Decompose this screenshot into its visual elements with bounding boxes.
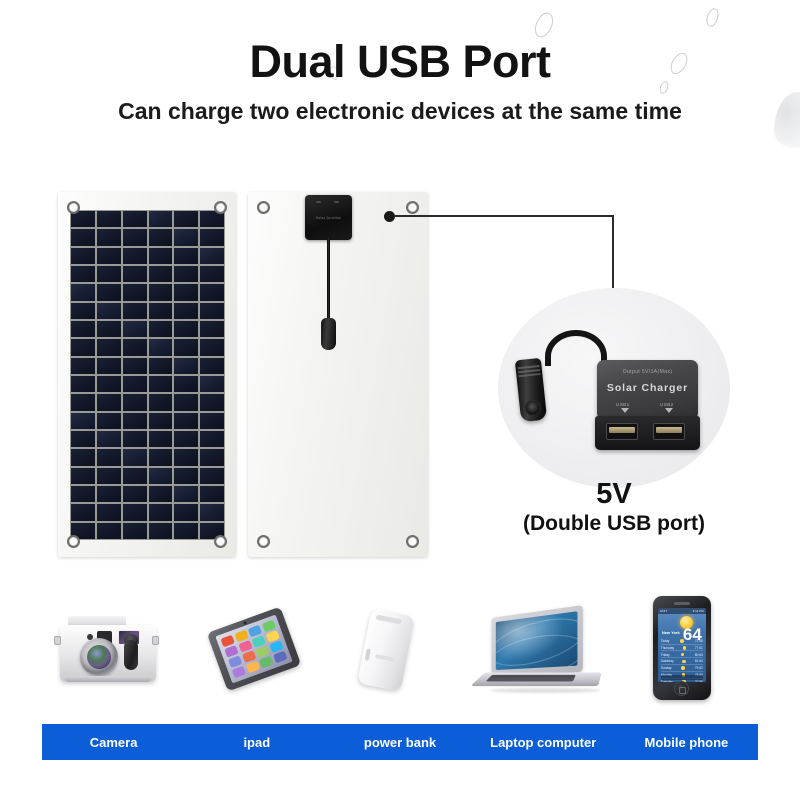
forecast-temps: 81 64	[695, 659, 703, 663]
forecast-temps: 77 61	[695, 646, 703, 650]
laptop-lid	[491, 605, 582, 676]
smartphone-body: AT&T 3:14 PM New York 64 Today72 58Thurs…	[653, 596, 711, 700]
solar-cell	[174, 339, 198, 355]
tablet-app-icon	[232, 666, 246, 678]
solar-cell	[123, 248, 147, 264]
grommet-icon	[257, 201, 270, 214]
usb1-label: USB1	[616, 402, 630, 407]
watermark-bubble	[704, 7, 720, 28]
solar-cell	[71, 266, 95, 282]
solar-cell	[97, 504, 121, 520]
forecast-temps: 72 58	[695, 639, 703, 643]
solar-panel-back: Solar Junction	[248, 192, 428, 557]
solar-cell	[149, 394, 173, 410]
solar-cell	[71, 339, 95, 355]
solar-cell	[174, 284, 198, 300]
solar-cell	[174, 431, 198, 447]
solar-cell	[123, 376, 147, 392]
grommet-icon	[214, 535, 227, 548]
solar-cell	[97, 486, 121, 502]
solar-cell	[200, 321, 224, 337]
solar-cell	[71, 358, 95, 374]
solar-cell	[97, 339, 121, 355]
solar-cell	[200, 376, 224, 392]
solar-cell	[149, 504, 173, 520]
solar-cell	[200, 413, 224, 429]
solar-cell	[200, 431, 224, 447]
grommet-icon	[67, 535, 80, 548]
device-camera	[42, 592, 185, 704]
solar-cell	[123, 431, 147, 447]
status-time: 3:14 PM	[693, 609, 704, 613]
power-bank-logo	[376, 654, 394, 661]
solar-cell	[149, 523, 173, 539]
solar-cell	[123, 339, 147, 355]
solar-cell	[174, 504, 198, 520]
forecast-temps: 80 63	[695, 653, 703, 657]
forecast-row: Sunday79 62	[661, 666, 703, 672]
phone-status-bar: AT&T 3:14 PM	[658, 608, 706, 614]
solar-cell	[200, 468, 224, 484]
solar-cell	[97, 413, 121, 429]
device-ipad	[185, 592, 328, 704]
solar-cell	[149, 266, 173, 282]
solar-cell	[149, 413, 173, 429]
weather-footer-bar	[661, 675, 703, 680]
solar-cell	[200, 449, 224, 465]
dc-cable	[327, 238, 330, 323]
solar-cell	[71, 394, 95, 410]
caption-voltage: 5V	[498, 478, 730, 511]
camera-base	[64, 676, 152, 682]
solar-cell	[174, 358, 198, 374]
solar-cell	[123, 266, 147, 282]
solar-cell	[200, 229, 224, 245]
solar-cell	[97, 211, 121, 227]
phone-speaker	[674, 602, 690, 605]
solar-cell	[97, 248, 121, 264]
solar-cell	[71, 321, 95, 337]
power-bank-ports	[376, 615, 402, 625]
forecast-day: Saturday	[661, 659, 674, 663]
solar-cell	[97, 266, 121, 282]
barrel-tip	[524, 399, 542, 417]
solar-cell	[71, 284, 95, 300]
solar-cell	[149, 431, 173, 447]
solar-cell	[149, 486, 173, 502]
solar-cell	[97, 394, 121, 410]
solar-cell	[149, 303, 173, 319]
camera-lens	[80, 638, 118, 676]
usb-port-1	[606, 423, 638, 440]
grommet-icon	[406, 201, 419, 214]
solar-cell	[123, 468, 147, 484]
solar-cell	[123, 523, 147, 539]
solar-cell	[200, 486, 224, 502]
camera-lens-glass	[87, 645, 111, 669]
laptop-keyboard	[485, 675, 575, 682]
solar-cell	[174, 248, 198, 264]
solar-cell	[200, 248, 224, 264]
solar-cell	[174, 303, 198, 319]
status-carrier: AT&T	[660, 609, 667, 613]
solar-cell	[97, 284, 121, 300]
solar-cell	[174, 266, 198, 282]
laptop-screen	[495, 611, 577, 670]
device-label-bar: Cameraipadpower bankLaptop computerMobil…	[42, 724, 758, 760]
forecast-temps: 79 62	[695, 666, 703, 670]
solar-cell	[71, 248, 95, 264]
forecast-day: Friday	[661, 653, 670, 657]
device-mobile-phone: AT&T 3:14 PM New York 64 Today72 58Thurs…	[615, 592, 758, 704]
forecast-row: Saturday81 64	[661, 659, 703, 665]
solar-cell	[123, 486, 147, 502]
barrel-ring	[518, 373, 540, 377]
junction-box-label: Solar Junction	[305, 215, 352, 221]
solar-cell	[123, 303, 147, 319]
solar-cell	[71, 468, 95, 484]
solar-cell	[123, 449, 147, 465]
solar-cell	[71, 431, 95, 447]
solar-cell	[71, 303, 95, 319]
weather-city: New York	[662, 630, 680, 635]
power-bank-button	[365, 648, 371, 661]
device-laptop	[472, 592, 615, 704]
solar-cell	[123, 358, 147, 374]
solar-cell	[174, 321, 198, 337]
solar-cell	[174, 394, 198, 410]
laptop-base	[470, 673, 601, 687]
device-label-camera: Camera	[42, 735, 185, 750]
solar-cell	[97, 449, 121, 465]
solar-cell	[71, 413, 95, 429]
forecast-sun-icon	[681, 666, 685, 670]
device-power-bank	[328, 592, 471, 704]
tablet-app-icon	[246, 661, 260, 673]
solar-cell	[174, 449, 198, 465]
solar-cell	[97, 358, 121, 374]
charger-output-label: Output 5V/1A(Max)	[597, 369, 698, 375]
charger-brand-label: Solar Charger	[597, 382, 698, 394]
solar-cell	[149, 376, 173, 392]
phone-screen: AT&T 3:14 PM New York 64 Today72 58Thurs…	[658, 608, 706, 682]
forecast-day: Tuesday	[661, 680, 673, 682]
solar-cell	[149, 321, 173, 337]
solar-cell	[97, 376, 121, 392]
solar-cell	[97, 229, 121, 245]
usb-port-2	[653, 423, 685, 440]
camera-strap-lug	[54, 636, 61, 645]
solar-cell	[149, 339, 173, 355]
solar-cell	[71, 486, 95, 502]
grommet-icon	[214, 201, 227, 214]
solar-cell	[174, 413, 198, 429]
junction-box-pin	[316, 201, 321, 203]
solar-cell	[123, 394, 147, 410]
solar-cell	[149, 211, 173, 227]
solar-cell	[71, 504, 95, 520]
forecast-sun-icon	[683, 646, 687, 650]
solar-cell	[200, 303, 224, 319]
forecast-sun-icon	[680, 639, 684, 643]
solar-cell	[97, 523, 121, 539]
usb-charger-body: Output 5V/1A(Max) Solar Charger USB1 USB…	[597, 360, 698, 420]
solar-panel-front	[58, 192, 236, 557]
solar-cell	[149, 468, 173, 484]
solar-cell	[123, 284, 147, 300]
solar-cell	[200, 284, 224, 300]
callout-line-horizontal	[394, 215, 614, 217]
device-label-smartphone: Mobile phone	[615, 735, 758, 750]
page-subtitle: Can charge two electronic devices at the…	[0, 98, 800, 125]
device-label-power-bank: power bank	[328, 735, 471, 750]
solar-cell	[71, 229, 95, 245]
usb2-label: USB2	[660, 402, 674, 407]
solar-cell	[174, 229, 198, 245]
solar-cell	[200, 394, 224, 410]
solar-cell	[174, 468, 198, 484]
solar-cell	[149, 449, 173, 465]
solar-cell	[174, 486, 198, 502]
forecast-row: Today72 58	[661, 639, 703, 645]
solar-cell	[174, 211, 198, 227]
solar-cell	[174, 523, 198, 539]
tablet-screen	[216, 615, 293, 684]
solar-cell	[97, 431, 121, 447]
usb2-arrow-icon	[665, 408, 673, 413]
power-bank-body	[358, 609, 416, 692]
device-label-tablet: ipad	[185, 735, 328, 750]
forecast-sun-icon	[682, 660, 686, 664]
grommet-icon	[67, 201, 80, 214]
device-row: AT&T 3:14 PM New York 64 Today72 58Thurs…	[42, 592, 758, 704]
usb1-arrow-icon	[621, 408, 629, 413]
camera-grip	[124, 640, 138, 670]
solar-cell	[200, 339, 224, 355]
solar-cell	[149, 229, 173, 245]
solar-cell	[123, 504, 147, 520]
solar-cell	[123, 321, 147, 337]
solar-cell	[123, 211, 147, 227]
solar-cell	[149, 248, 173, 264]
usb-charger-front-face	[595, 416, 700, 450]
solar-cell	[97, 468, 121, 484]
solar-cell	[123, 229, 147, 245]
home-button[interactable]	[674, 681, 689, 696]
grommet-icon	[257, 535, 270, 548]
forecast-day: Thursday	[661, 646, 674, 650]
laptop-shadow	[490, 688, 600, 693]
forecast-row: Friday80 63	[661, 653, 703, 659]
solar-cell	[149, 358, 173, 374]
solar-cell-grid	[70, 210, 225, 540]
solar-cell	[71, 376, 95, 392]
solar-cell	[200, 358, 224, 374]
forecast-row: Thursday77 61	[661, 646, 703, 652]
tablet-app-icon	[273, 651, 287, 663]
tablet-body	[207, 607, 302, 692]
forecast-day: Sunday	[661, 666, 672, 670]
forecast-sun-icon	[681, 653, 685, 657]
device-label-laptop: Laptop computer	[472, 735, 615, 750]
junction-box: Solar Junction	[305, 195, 352, 240]
camera-strap-lug	[152, 636, 159, 645]
solar-cell	[149, 284, 173, 300]
caption-ports: (Double USB port)	[488, 512, 740, 536]
forecast-day: Today	[661, 639, 670, 643]
solar-cell	[97, 303, 121, 319]
solar-cell	[123, 413, 147, 429]
grommet-icon	[406, 535, 419, 548]
solar-cell	[97, 321, 121, 337]
page-title: Dual USB Port	[0, 36, 800, 88]
solar-cell	[200, 266, 224, 282]
solar-cell	[71, 449, 95, 465]
junction-box-pin	[334, 201, 339, 203]
forecast-temps: 70 56	[695, 680, 703, 682]
dc-cable-plug	[321, 318, 336, 350]
tablet-app-icon	[260, 656, 274, 668]
solar-cell	[174, 376, 198, 392]
solar-cell	[200, 504, 224, 520]
